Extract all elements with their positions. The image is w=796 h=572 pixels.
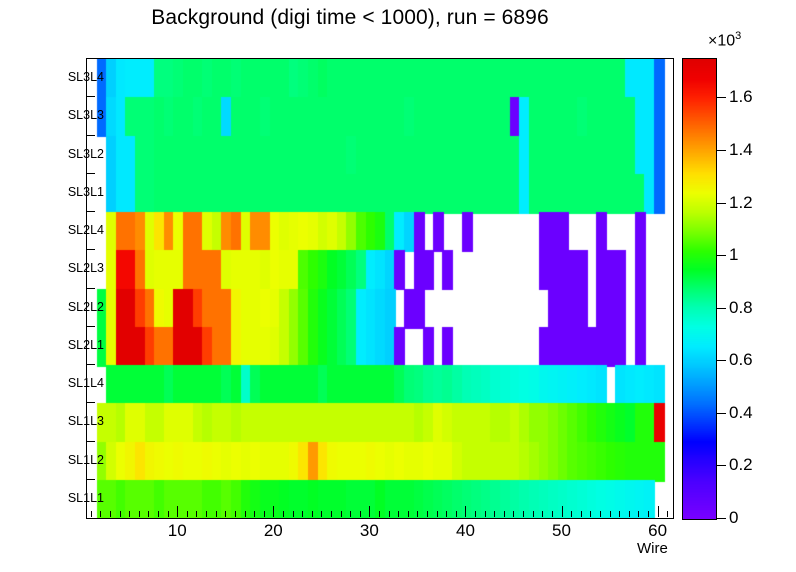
- x-axis-minor-tick: [398, 511, 399, 517]
- x-axis-major-tick: [465, 506, 466, 517]
- z-axis-tick-label: 0.6: [729, 350, 753, 370]
- x-axis-minor-tick: [245, 511, 246, 517]
- z-axis-tick: [716, 150, 726, 151]
- z-exp-base: ×10: [708, 32, 735, 49]
- heatmap-plot-area[interactable]: [86, 58, 674, 519]
- x-axis-minor-tick: [619, 511, 620, 517]
- y-axis-label-sl3l4: SL3L4: [68, 70, 104, 84]
- x-axis-minor-tick: [225, 511, 226, 517]
- x-axis-tick-label: 40: [456, 521, 475, 541]
- y-axis-tick: [86, 135, 95, 136]
- x-axis-minor-tick: [100, 511, 101, 517]
- x-axis-tick-label: 10: [168, 521, 187, 541]
- x-axis-minor-tick: [120, 511, 121, 517]
- y-axis-tick: [86, 211, 95, 212]
- x-axis-minor-tick: [129, 511, 130, 517]
- x-axis-minor-tick: [446, 511, 447, 517]
- x-axis-minor-tick: [283, 511, 284, 517]
- x-axis-minor-tick: [331, 511, 332, 517]
- page-title: Background (digi time < 1000), run = 689…: [0, 6, 700, 30]
- y-axis-label-sl3l2: SL3L2: [68, 147, 104, 161]
- y-axis-label-sl1l2: SL1L2: [68, 453, 104, 467]
- x-axis-minor-tick: [571, 511, 572, 517]
- x-axis-minor-tick: [417, 511, 418, 517]
- z-axis-tick: [716, 203, 726, 204]
- y-axis-label-sl1l3: SL1L3: [68, 414, 104, 428]
- x-axis-minor-tick: [485, 511, 486, 517]
- z-axis-tick-label: 1.4: [729, 140, 753, 160]
- x-axis-minor-tick: [196, 511, 197, 517]
- y-axis-tick: [86, 441, 95, 442]
- z-axis-tick-label: 0: [729, 508, 738, 528]
- y-axis-tick: [86, 288, 95, 289]
- x-axis-minor-tick: [254, 511, 255, 517]
- x-axis-minor-tick: [552, 511, 553, 517]
- x-axis-minor-tick: [206, 511, 207, 517]
- heatmap-canvas[interactable]: [87, 59, 673, 518]
- y-axis-label-sl3l1: SL3L1: [68, 185, 104, 199]
- x-axis-minor-tick: [312, 511, 313, 517]
- z-axis-tick-label: 1: [729, 245, 738, 265]
- x-axis-minor-tick: [264, 511, 265, 517]
- y-axis-label-sl2l1: SL2L1: [68, 338, 104, 352]
- y-axis-tick: [86, 364, 95, 365]
- color-scale-gradient: [683, 59, 716, 519]
- x-axis-minor-tick: [494, 511, 495, 517]
- y-axis-tick: [86, 479, 95, 480]
- x-axis-minor-tick: [504, 511, 505, 517]
- color-scale-bar[interactable]: [682, 58, 717, 520]
- y-axis-label-sl1l4: SL1L4: [68, 376, 104, 390]
- x-axis-minor-tick: [216, 511, 217, 517]
- x-axis-minor-tick: [667, 511, 668, 517]
- x-axis-minor-tick: [475, 511, 476, 517]
- x-axis-minor-tick: [437, 511, 438, 517]
- x-axis-tick-label: 50: [552, 521, 571, 541]
- x-axis-minor-tick: [638, 511, 639, 517]
- z-axis-tick-label: 0.8: [729, 298, 753, 318]
- x-axis-minor-tick: [408, 511, 409, 517]
- x-axis-minor-tick: [360, 511, 361, 517]
- x-axis-minor-tick: [91, 511, 92, 517]
- y-axis-label-sl1l1: SL1L1: [68, 491, 104, 505]
- x-axis-minor-tick: [341, 511, 342, 517]
- x-axis-minor-tick: [321, 511, 322, 517]
- x-axis-major-tick: [369, 506, 370, 517]
- y-axis-tick: [86, 249, 95, 250]
- x-axis-major-tick: [177, 506, 178, 517]
- x-axis-minor-tick: [158, 511, 159, 517]
- x-axis-minor-tick: [168, 511, 169, 517]
- x-axis-minor-tick: [427, 511, 428, 517]
- z-axis-tick-label: 0.2: [729, 455, 753, 475]
- x-axis-minor-tick: [456, 511, 457, 517]
- x-axis-minor-tick: [513, 511, 514, 517]
- x-axis-minor-tick: [523, 511, 524, 517]
- x-axis-major-tick: [658, 506, 659, 517]
- z-axis-tick: [716, 360, 726, 361]
- y-axis-tick: [86, 326, 95, 327]
- y-axis-label-sl2l4: SL2L4: [68, 223, 104, 237]
- x-axis-title: Wire: [637, 540, 668, 557]
- z-axis-tick: [716, 413, 726, 414]
- x-axis-minor-tick: [293, 511, 294, 517]
- z-axis-tick-label: 1.6: [729, 87, 753, 107]
- z-axis-tick: [716, 518, 726, 519]
- x-axis-major-tick: [562, 506, 563, 517]
- z-axis-tick: [716, 308, 726, 309]
- x-axis-minor-tick: [302, 511, 303, 517]
- x-axis-major-tick: [273, 506, 274, 517]
- x-axis-tick-label: 30: [360, 521, 379, 541]
- y-axis-label-sl2l3: SL2L3: [68, 261, 104, 275]
- x-axis-minor-tick: [581, 511, 582, 517]
- z-axis-tick: [716, 97, 726, 98]
- x-axis-tick-label: 20: [264, 521, 283, 541]
- x-axis-minor-tick: [542, 511, 543, 517]
- x-axis-minor-tick: [139, 511, 140, 517]
- x-axis-minor-tick: [648, 511, 649, 517]
- y-axis-label-sl3l3: SL3L3: [68, 108, 104, 122]
- z-axis-tick: [716, 465, 726, 466]
- x-axis-minor-tick: [350, 511, 351, 517]
- z-axis-tick-label: 0.4: [729, 403, 753, 423]
- z-axis-tick: [716, 255, 726, 256]
- x-axis-minor-tick: [533, 511, 534, 517]
- x-axis-minor-tick: [610, 511, 611, 517]
- y-axis-tick: [86, 96, 95, 97]
- z-axis-tick-label: 1.2: [729, 193, 753, 213]
- x-axis-minor-tick: [590, 511, 591, 517]
- x-axis-minor-tick: [148, 511, 149, 517]
- z-axis-exponent: ×103: [708, 30, 741, 50]
- x-axis-minor-tick: [110, 511, 111, 517]
- x-axis-minor-tick: [187, 511, 188, 517]
- y-axis-tick: [86, 402, 95, 403]
- x-axis-minor-tick: [235, 511, 236, 517]
- y-axis-tick: [86, 173, 95, 174]
- x-axis-minor-tick: [379, 511, 380, 517]
- x-axis-minor-tick: [389, 511, 390, 517]
- z-exp-power: 3: [735, 30, 741, 42]
- x-axis-tick-label: 60: [648, 521, 667, 541]
- y-axis-label-sl2l2: SL2L2: [68, 300, 104, 314]
- x-axis-minor-tick: [629, 511, 630, 517]
- x-axis-minor-tick: [600, 511, 601, 517]
